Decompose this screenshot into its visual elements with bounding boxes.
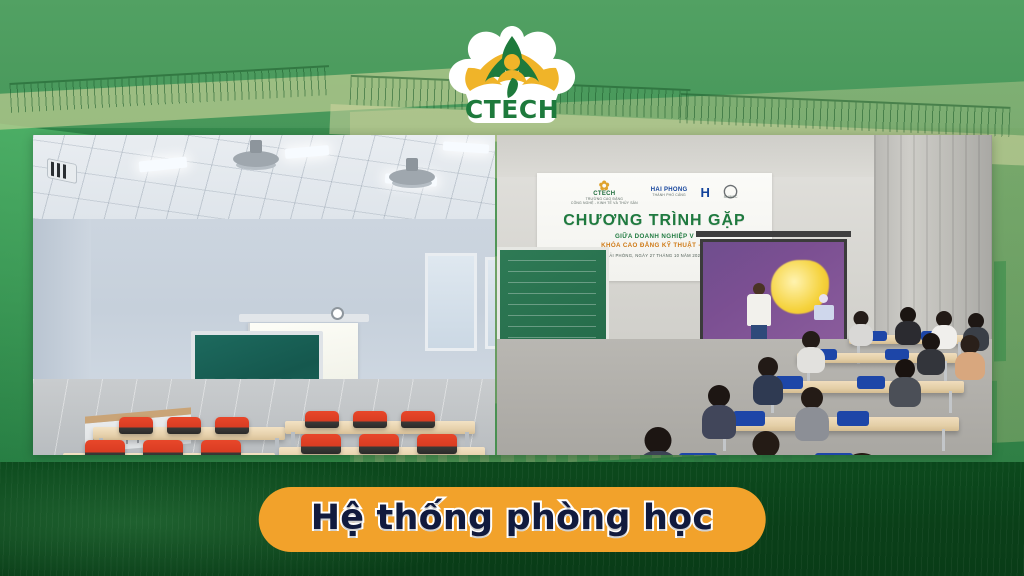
banner-h-mark: H <box>701 187 711 198</box>
caption-pill[interactable]: Hệ thống phòng học <box>259 487 766 552</box>
audience-chair <box>679 453 717 455</box>
student-chair <box>119 417 153 434</box>
banner-haiphong-sub: THÀNH PHỐ CẢNG <box>651 194 688 198</box>
student-chair <box>305 411 339 428</box>
ceiling-fan-icon <box>233 151 279 167</box>
student-chair <box>167 417 201 434</box>
classroom-window <box>425 253 477 351</box>
student-chair <box>353 411 387 428</box>
student-chair <box>201 440 241 455</box>
audience-person <box>702 385 736 431</box>
banner-ctech-mark: ✿ <box>571 180 638 191</box>
presenter <box>747 283 771 341</box>
audience-chair <box>733 411 765 426</box>
student-chair <box>417 434 457 454</box>
audience-chair <box>857 376 885 389</box>
audience-person <box>955 335 985 373</box>
ctech-logo[interactable]: CTECH <box>444 22 580 126</box>
banner-logo-circle: ◯ SHINEC <box>723 185 738 200</box>
student-chair <box>143 440 183 455</box>
banner-circle-name: SHINEC <box>723 196 738 200</box>
student-chair <box>215 417 249 434</box>
stage-banner-logos: ✿ CTECH TRƯỜNG CAO ĐẲNG CÔNG NGHỆ - KINH… <box>537 173 772 206</box>
logo-wordmark: CTECH <box>465 95 559 124</box>
audience-person <box>753 357 783 397</box>
photo-strip: ✿ CTECH TRƯỜNG CAO ĐẲNG CÔNG NGHỆ - KINH… <box>33 135 992 455</box>
student-chair <box>301 434 341 454</box>
audience-person <box>895 307 921 341</box>
audience-person <box>797 331 825 367</box>
photo-seminar-room[interactable]: ✿ CTECH TRƯỜNG CAO ĐẲNG CÔNG NGHỆ - KINH… <box>497 135 992 455</box>
audience-chair <box>815 453 853 455</box>
audience-person <box>849 311 873 343</box>
audience-chair <box>837 411 869 426</box>
wall-clock-icon <box>331 307 344 320</box>
poster-canvas: CTECH <box>0 0 1024 576</box>
audience-person <box>917 333 945 369</box>
banner-ctech-sub2: CÔNG NGHỆ - KINH TẾ VÀ THỦY SẢN <box>571 202 638 206</box>
projector-screen-rail <box>239 314 369 322</box>
classroom-window <box>485 257 495 349</box>
slide-box <box>814 305 834 320</box>
projector-screen <box>700 239 847 343</box>
banner-logo-h: H <box>701 187 711 198</box>
banner-logo-haiphong: HAI PHONG THÀNH PHỐ CẢNG <box>651 187 688 198</box>
ceiling-fan-icon <box>389 169 435 185</box>
student-chair <box>401 411 435 428</box>
student-chair <box>85 440 125 455</box>
banner-title: CHƯƠNG TRÌNH GẶP <box>537 212 772 230</box>
student-chair <box>359 434 399 454</box>
photo-empty-classroom[interactable] <box>33 135 495 455</box>
projector-screen-rail <box>696 231 851 237</box>
audience-person <box>889 359 921 401</box>
caption-text: Hệ thống phòng học <box>311 501 714 536</box>
audience-person <box>795 387 829 433</box>
presenter-body <box>747 294 771 326</box>
slide-dot <box>819 294 828 303</box>
banner-logo-ctech: ✿ CTECH TRƯỜNG CAO ĐẲNG CÔNG NGHỆ - KINH… <box>571 180 638 206</box>
